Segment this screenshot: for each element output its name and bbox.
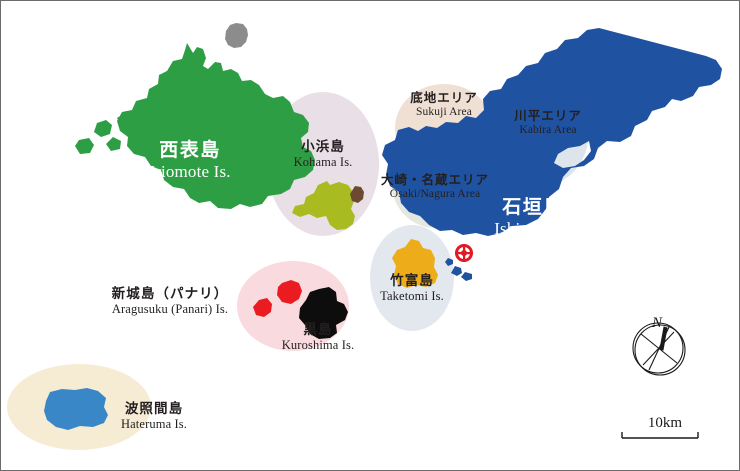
compass-north-label: N	[652, 315, 662, 332]
port-marker-icon[interactable]	[455, 244, 473, 262]
scale-bar-icon	[622, 432, 698, 438]
island-ishigaki	[382, 28, 722, 236]
island-iriomote	[117, 43, 315, 209]
island-hatoma	[225, 23, 248, 48]
island-iriomote-nw-fringe	[75, 120, 121, 154]
scale-bar-label: 10km	[615, 415, 715, 432]
map-canvas: 西表島 Iriomote Is. 小浜島 Kohama Is. 石垣島 Ishi…	[0, 0, 740, 471]
map-graphics-layer	[1, 1, 740, 471]
island-hateruma	[44, 388, 108, 430]
